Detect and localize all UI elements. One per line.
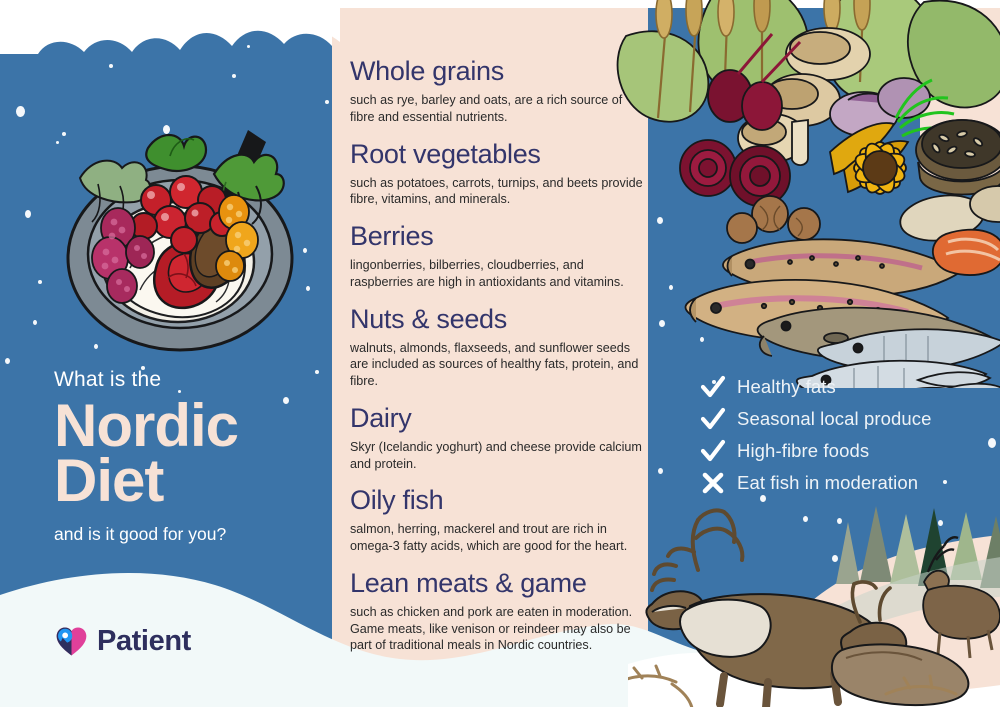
checklist-label: Seasonal local produce — [737, 408, 932, 430]
checklist-item: Seasonal local produce — [700, 406, 990, 432]
page-title: Nordic Diet — [54, 398, 334, 508]
oily-fish-illustration — [660, 228, 1000, 388]
section-heading: Oily fish — [350, 485, 648, 516]
title-line-2: Diet — [54, 447, 163, 514]
checklist-label: High-fibre foods — [737, 440, 869, 462]
section-oily-fish: Oily fish salmon, herring, mackerel and … — [350, 485, 648, 555]
patient-logo[interactable]: Patient — [55, 625, 191, 658]
checklist-label: Healthy fats — [737, 376, 836, 398]
section-heading: Root vegetables — [350, 139, 648, 170]
food-group-list: Whole grains such as rye, barley and oat… — [350, 56, 648, 667]
section-body: such as potatoes, carrots, turnips, and … — [350, 175, 648, 208]
section-body: such as rye, barley and oats, are a rich… — [350, 92, 648, 125]
section-heading: Nuts & seeds — [350, 304, 650, 335]
section-heading: Dairy — [350, 403, 648, 434]
checklist-item: High-fibre foods — [700, 438, 990, 464]
check-icon — [700, 374, 726, 400]
section-dairy: Dairy Skyr (Icelandic yoghurt) and chees… — [350, 403, 648, 473]
vegetables-grains-illustration — [612, 0, 1000, 244]
section-body: salmon, herring, mackerel and trout are … — [350, 521, 648, 554]
section-whole-grains: Whole grains such as rye, barley and oat… — [350, 56, 648, 126]
check-icon — [700, 438, 726, 464]
section-nuts-seeds: Nuts & seeds walnuts, almonds, flaxseeds… — [350, 304, 648, 390]
benefits-checklist: Healthy fats Seasonal local produce High… — [700, 374, 990, 502]
section-body: walnuts, almonds, flaxseeds, and sunflow… — [350, 340, 650, 390]
reindeer-snow-scene-illustration — [628, 486, 1000, 707]
left-title-block: What is the Nordic Diet and is it good f… — [54, 368, 334, 545]
section-root-vegetables: Root vegetables such as potatoes, carrot… — [350, 139, 648, 209]
checklist-item: Healthy fats — [700, 374, 990, 400]
bowl-of-skyr-with-berries-illustration — [52, 100, 308, 358]
section-lean-meats-game: Lean meats & game such as chicken and po… — [350, 568, 648, 654]
subtitle-text: and is it good for you? — [54, 524, 334, 545]
section-body: such as chicken and pork are eaten in mo… — [350, 604, 650, 654]
section-heading: Berries — [350, 221, 650, 252]
section-heading: Whole grains — [350, 56, 648, 87]
check-icon — [700, 406, 726, 432]
kicker-text: What is the — [54, 368, 334, 392]
section-berries: Berries lingonberries, bilberries, cloud… — [350, 221, 648, 291]
infographic-poster: What is the Nordic Diet and is it good f… — [0, 0, 1000, 707]
section-body: lingonberries, bilberries, cloudberries,… — [350, 257, 650, 290]
section-heading: Lean meats & game — [350, 568, 650, 599]
section-body: Skyr (Icelandic yoghurt) and cheese prov… — [350, 439, 648, 472]
heart-pin-logo-icon — [55, 625, 88, 658]
logo-text: Patient — [97, 625, 191, 658]
